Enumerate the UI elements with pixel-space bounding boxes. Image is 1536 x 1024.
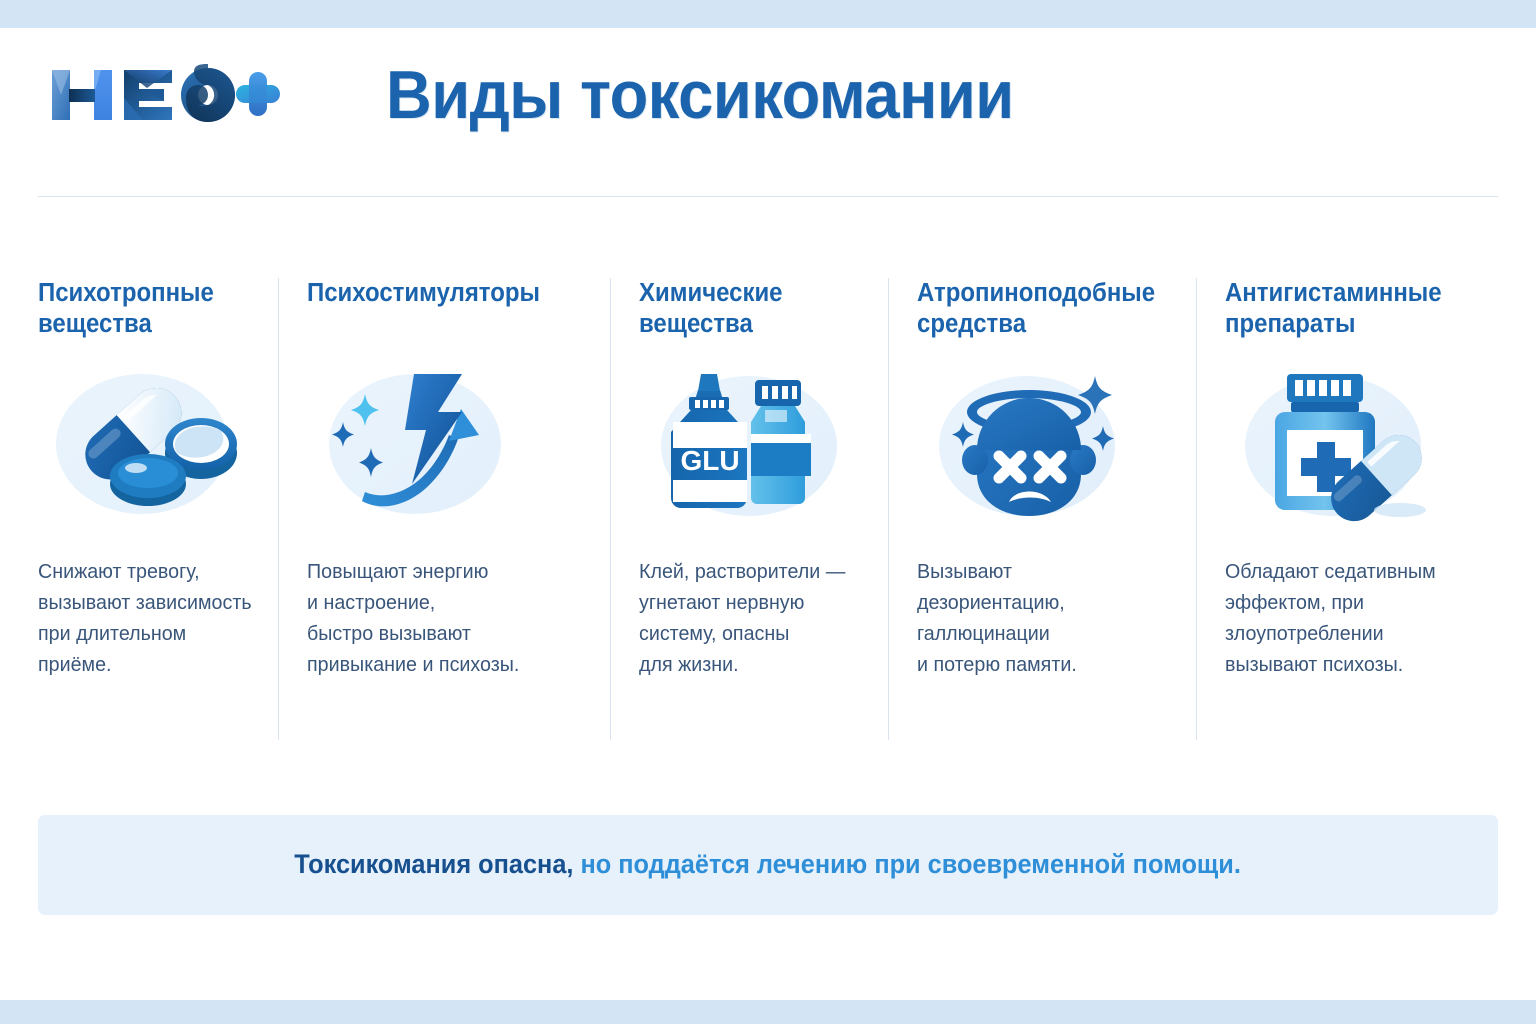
- glue-solvent-bottles-icon: GLU: [639, 360, 863, 528]
- medicine-bottle-capsule-icon: [1225, 360, 1449, 528]
- header: Виды токсикомании: [0, 28, 1536, 196]
- footer-message: Токсикомания опасна, но поддаётся лечени…: [295, 850, 1242, 879]
- card-description: Повыщают энергию и настроение, быстро вы…: [307, 556, 519, 681]
- card-description: Снижают тревогу, вызывают зависимость пр…: [38, 556, 252, 681]
- card-title: Атропиноподобные средства: [917, 278, 1159, 340]
- category-grid: Психотропные вещества: [38, 278, 1498, 740]
- infographic-canvas: Виды токсикомании Психотропные вещества: [0, 28, 1536, 1000]
- category-card-psychotropic: Психотропные вещества: [38, 278, 278, 740]
- card-description: Клей, растворители — угнетают нервную си…: [639, 556, 845, 681]
- header-divider: [38, 196, 1498, 197]
- card-title: Антигистаминные препараты: [1225, 278, 1461, 340]
- category-card-antihistamines: Антигистаминные препараты: [1196, 278, 1498, 740]
- pills-capsule-icon: [38, 360, 262, 528]
- lightning-bolt-sparkles-arrow-icon: [307, 360, 531, 528]
- card-description: Обладают седативным эффектом, при злоупо…: [1225, 556, 1436, 681]
- logo-neo-plus-icon: [48, 64, 280, 126]
- category-card-stimulants: Психостимуляторы: [278, 278, 610, 740]
- footer-light-text: но поддаётся лечению при своевременной п…: [574, 849, 1241, 879]
- footer-banner: Токсикомания опасна, но поддаётся лечени…: [38, 815, 1498, 915]
- card-title: Химические вещества: [639, 278, 852, 340]
- category-card-chemicals: Химические вещества: [610, 278, 888, 740]
- footer-strong-text: Токсикомания опасна,: [295, 849, 574, 879]
- bottom-accent-band: [0, 1000, 1536, 1024]
- card-title: Психотропные вещества: [38, 278, 243, 340]
- card-title: Психостимуляторы: [307, 278, 571, 309]
- glue-bottle-label: GLU: [680, 445, 739, 476]
- dizzy-face-icon: [917, 360, 1141, 528]
- page-title: Виды токсикомании: [386, 56, 1014, 134]
- top-accent-band: [0, 0, 1536, 28]
- category-card-atropine: Атропиноподобные средства: [888, 278, 1196, 740]
- brand-logo: [48, 64, 280, 126]
- card-description: Вызывают дезориентацию, галлюцинации и п…: [917, 556, 1077, 681]
